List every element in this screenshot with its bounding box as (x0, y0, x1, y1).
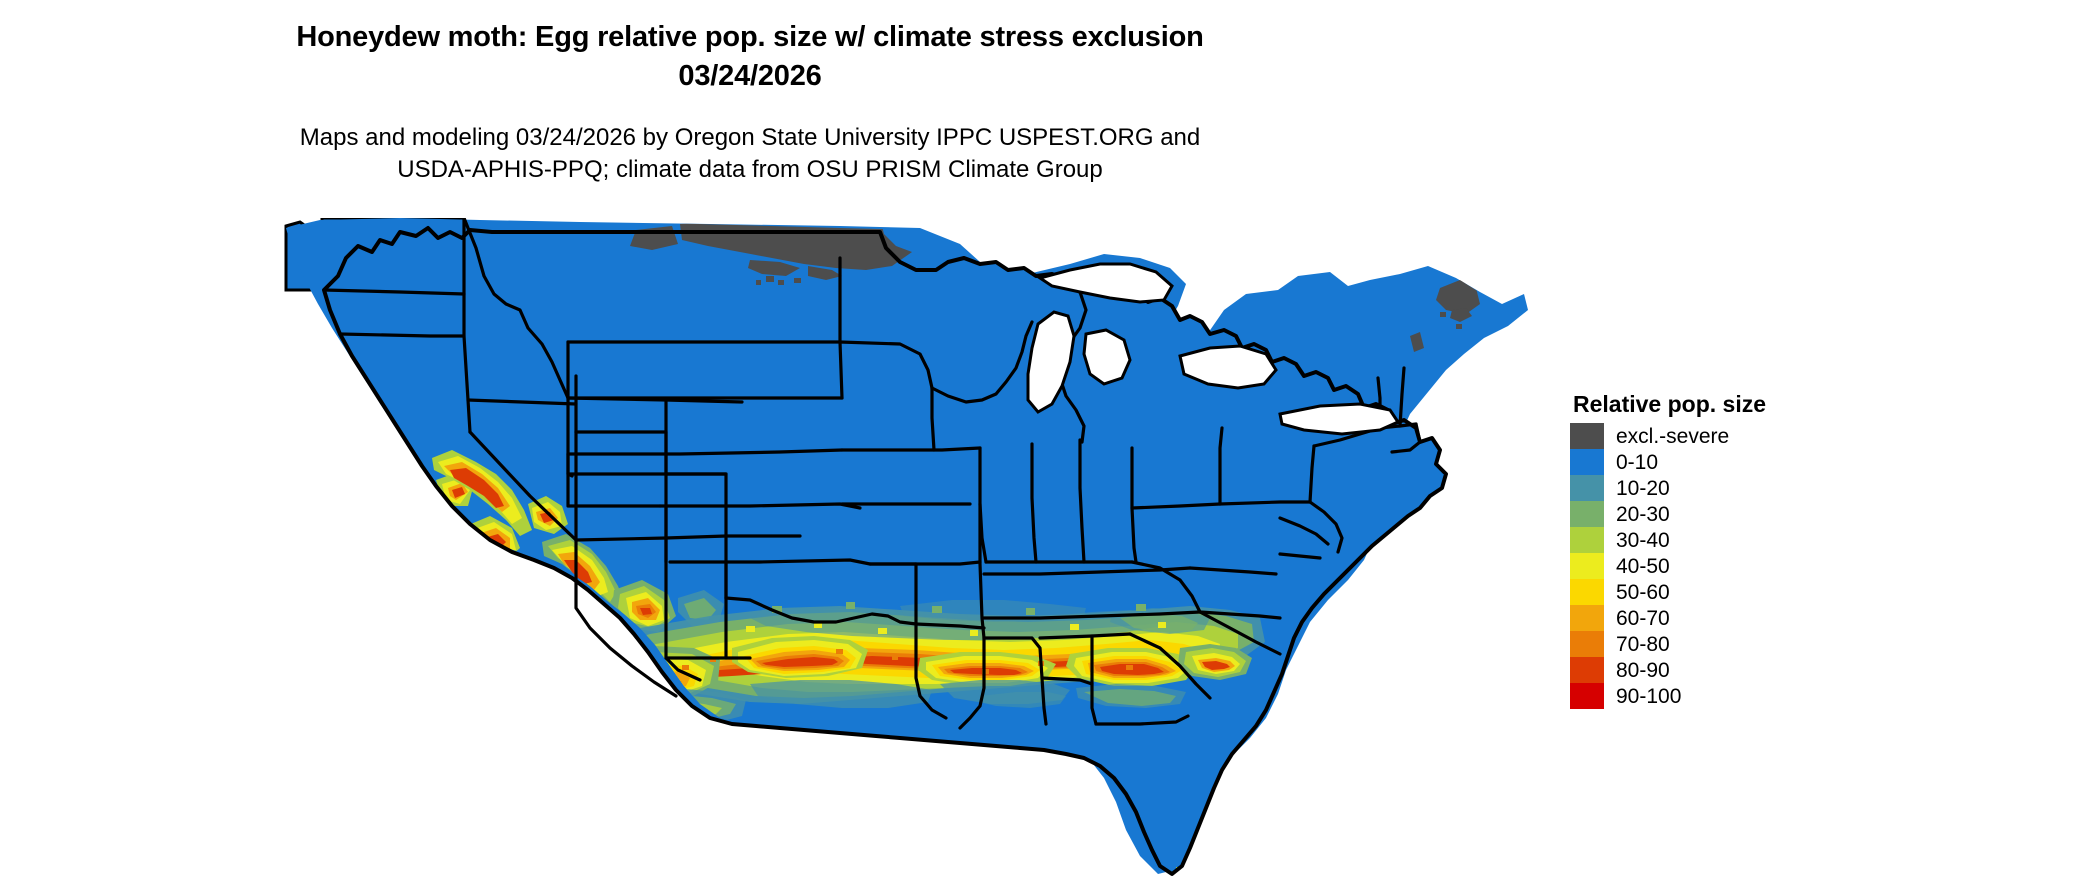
legend-label: 60-70 (1616, 608, 1670, 629)
legend-item: 0-10 (1570, 449, 1870, 475)
map-page: Honeydew moth: Egg relative pop. size w/… (0, 0, 2100, 892)
legend-label: 30-40 (1616, 530, 1670, 551)
page-title: Honeydew moth: Egg relative pop. size w/… (0, 18, 1500, 95)
legend-label: 20-30 (1616, 504, 1670, 525)
map-container (280, 218, 1540, 878)
legend-swatch (1570, 423, 1604, 449)
legend-label: 90-100 (1616, 686, 1681, 707)
legend-item: excl.-severe (1570, 423, 1870, 449)
legend-label: 50-60 (1616, 582, 1670, 603)
legend-swatch (1570, 605, 1604, 631)
legend-label: 40-50 (1616, 556, 1670, 577)
us-choropleth-map (280, 218, 1540, 878)
legend-swatch (1570, 553, 1604, 579)
attribution-subtitle: Maps and modeling 03/24/2026 by Oregon S… (0, 122, 1500, 187)
legend-item: 80-90 (1570, 657, 1870, 683)
legend: Relative pop. size excl.-severe0-1010-20… (1570, 392, 1870, 709)
legend-swatch (1570, 501, 1604, 527)
legend-swatch (1570, 683, 1604, 709)
legend-label: 10-20 (1616, 478, 1670, 499)
legend-label: 80-90 (1616, 660, 1670, 681)
legend-item: 50-60 (1570, 579, 1870, 605)
subtitle-block: Maps and modeling 03/24/2026 by Oregon S… (0, 122, 1500, 187)
legend-swatch (1570, 449, 1604, 475)
legend-item: 90-100 (1570, 683, 1870, 709)
legend-label: 70-80 (1616, 634, 1670, 655)
legend-label: 0-10 (1616, 452, 1658, 473)
legend-item: 10-20 (1570, 475, 1870, 501)
legend-item: 20-30 (1570, 501, 1870, 527)
legend-swatch (1570, 579, 1604, 605)
legend-item: 40-50 (1570, 553, 1870, 579)
legend-rows: excl.-severe0-1010-2020-3030-4040-5050-6… (1570, 423, 1870, 709)
legend-title: Relative pop. size (1573, 392, 1870, 417)
legend-swatch (1570, 527, 1604, 553)
legend-swatch (1570, 475, 1604, 501)
title-block: Honeydew moth: Egg relative pop. size w/… (0, 18, 1500, 95)
legend-item: 60-70 (1570, 605, 1870, 631)
legend-label: excl.-severe (1616, 426, 1729, 447)
legend-swatch (1570, 631, 1604, 657)
legend-item: 30-40 (1570, 527, 1870, 553)
legend-item: 70-80 (1570, 631, 1870, 657)
legend-swatch (1570, 657, 1604, 683)
